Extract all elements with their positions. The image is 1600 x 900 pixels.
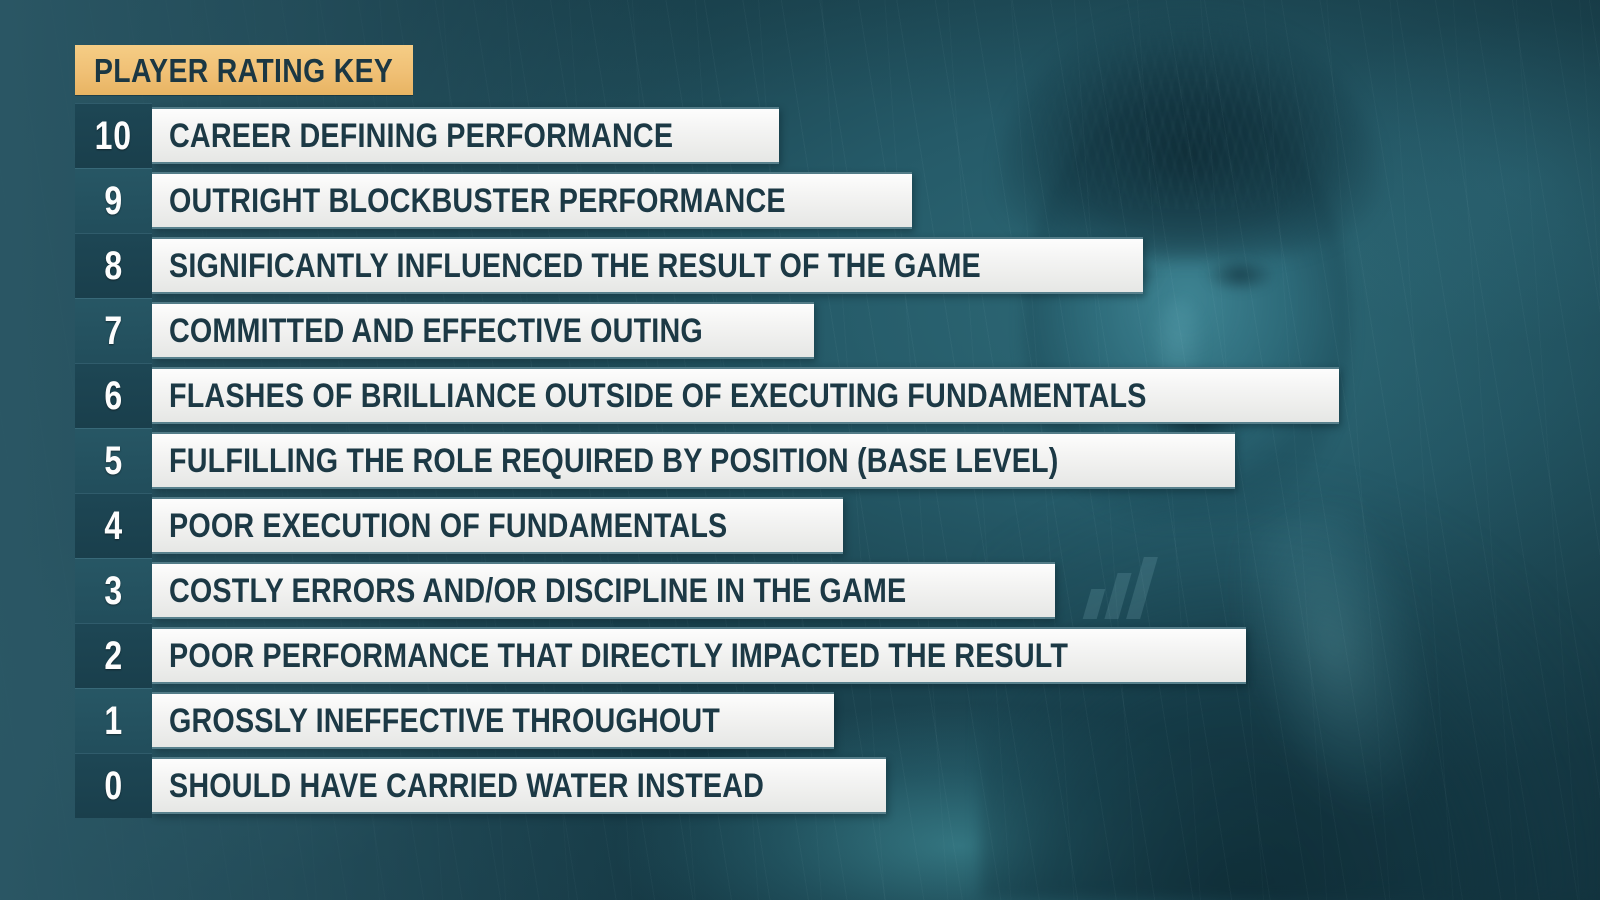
rating-score-cell: 1 [75, 688, 152, 753]
rating-score: 5 [104, 441, 123, 481]
table-row: 3 COSTLY ERRORS AND/OR DISCIPLINE IN THE… [75, 558, 1575, 623]
table-row: 8 SIGNIFICANTLY INFLUENCED THE RESULT OF… [75, 233, 1575, 298]
rating-description: SHOULD HAVE CARRIED WATER INSTEAD [169, 769, 764, 803]
table-row: 0 SHOULD HAVE CARRIED WATER INSTEAD [75, 753, 1575, 818]
rating-description-cell: OUTRIGHT BLOCKBUSTER PERFORMANCE [152, 172, 912, 229]
rating-description: FLASHES OF BRILLIANCE OUTSIDE OF EXECUTI… [169, 379, 1147, 413]
rating-description: GROSSLY INEFFECTIVE THROUGHOUT [169, 704, 720, 738]
rating-score: 1 [104, 701, 123, 741]
table-row: 2 POOR PERFORMANCE THAT DIRECTLY IMPACTE… [75, 623, 1575, 688]
rating-description-cell: POOR PERFORMANCE THAT DIRECTLY IMPACTED … [152, 627, 1246, 684]
page-title-text: PLAYER RATING KEY [94, 54, 393, 87]
rating-description-cell: SHOULD HAVE CARRIED WATER INSTEAD [152, 757, 886, 814]
table-row: 4 POOR EXECUTION OF FUNDAMENTALS [75, 493, 1575, 558]
rating-description-cell: COMMITTED AND EFFECTIVE OUTING [152, 302, 814, 359]
rating-description: COMMITTED AND EFFECTIVE OUTING [169, 314, 703, 348]
rating-description: OUTRIGHT BLOCKBUSTER PERFORMANCE [169, 184, 786, 218]
rating-description: FULFILLING THE ROLE REQUIRED BY POSITION… [169, 444, 1059, 478]
rating-score-cell: 0 [75, 753, 152, 818]
rating-score: 10 [95, 116, 132, 156]
rating-score-cell: 5 [75, 428, 152, 493]
page-title: PLAYER RATING KEY [75, 45, 413, 95]
table-row: 6 FLASHES OF BRILLIANCE OUTSIDE OF EXECU… [75, 363, 1575, 428]
rating-score: 4 [104, 506, 123, 546]
rating-score: 2 [104, 636, 123, 676]
rating-description-cell: SIGNIFICANTLY INFLUENCED THE RESULT OF T… [152, 237, 1143, 294]
table-row: 9 OUTRIGHT BLOCKBUSTER PERFORMANCE [75, 168, 1575, 233]
rating-description-cell: FULFILLING THE ROLE REQUIRED BY POSITION… [152, 432, 1235, 489]
rating-score-cell: 4 [75, 493, 152, 558]
rating-description-cell: POOR EXECUTION OF FUNDAMENTALS [152, 497, 843, 554]
rating-score: 8 [104, 246, 123, 286]
graphic-content: PLAYER RATING KEY 10 CAREER DEFINING PER… [0, 0, 1600, 900]
rating-description-cell: COSTLY ERRORS AND/OR DISCIPLINE IN THE G… [152, 562, 1055, 619]
graphic-canvas: PLAYER RATING KEY 10 CAREER DEFINING PER… [0, 0, 1600, 900]
table-row: 5 FULFILLING THE ROLE REQUIRED BY POSITI… [75, 428, 1575, 493]
rating-description-cell: CAREER DEFINING PERFORMANCE [152, 107, 779, 164]
table-row: 10 CAREER DEFINING PERFORMANCE [75, 103, 1575, 168]
rating-score: 3 [104, 571, 123, 611]
table-row: 7 COMMITTED AND EFFECTIVE OUTING [75, 298, 1575, 363]
rating-description: COSTLY ERRORS AND/OR DISCIPLINE IN THE G… [169, 574, 906, 608]
rating-score-cell: 9 [75, 168, 152, 233]
rating-score-cell: 7 [75, 298, 152, 363]
rating-description: POOR EXECUTION OF FUNDAMENTALS [169, 509, 727, 543]
rating-description: SIGNIFICANTLY INFLUENCED THE RESULT OF T… [169, 249, 981, 283]
rating-score-cell: 6 [75, 363, 152, 428]
rating-score: 0 [104, 766, 123, 806]
rating-score-cell: 3 [75, 558, 152, 623]
rating-score-cell: 10 [75, 103, 152, 168]
rating-description-cell: FLASHES OF BRILLIANCE OUTSIDE OF EXECUTI… [152, 367, 1339, 424]
rating-score: 7 [104, 311, 123, 351]
rating-description-cell: GROSSLY INEFFECTIVE THROUGHOUT [152, 692, 834, 749]
rating-score-cell: 2 [75, 623, 152, 688]
rating-key-list: 10 CAREER DEFINING PERFORMANCE 9 OUTRIGH… [75, 103, 1575, 818]
table-row: 1 GROSSLY INEFFECTIVE THROUGHOUT [75, 688, 1575, 753]
rating-score-cell: 8 [75, 233, 152, 298]
rating-score: 6 [104, 376, 123, 416]
rating-score: 9 [104, 181, 123, 221]
rating-description: POOR PERFORMANCE THAT DIRECTLY IMPACTED … [169, 639, 1068, 673]
rating-description: CAREER DEFINING PERFORMANCE [169, 119, 673, 153]
